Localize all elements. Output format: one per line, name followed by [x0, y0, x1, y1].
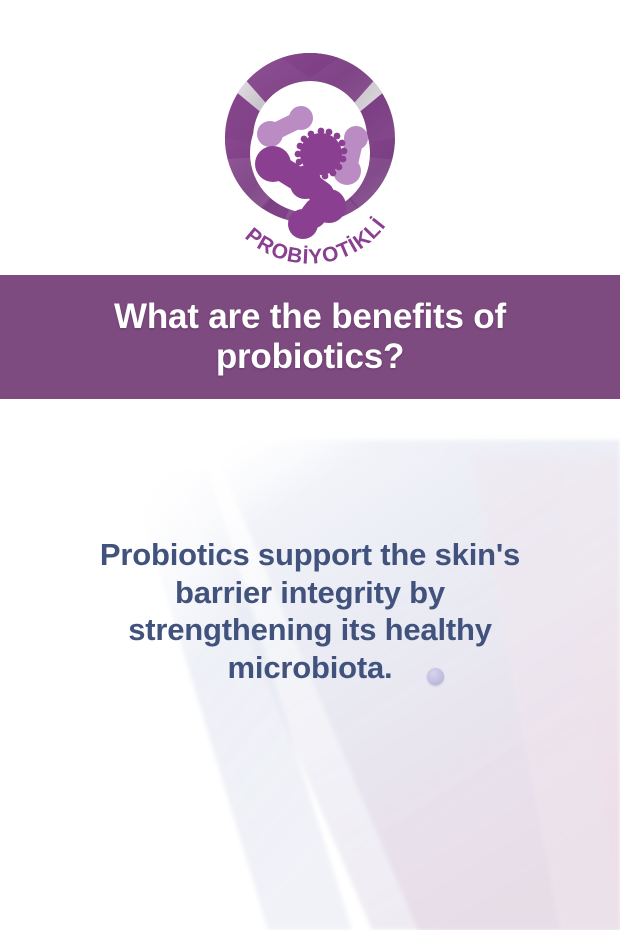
page-title: What are the benefits of probiotics? [0, 297, 620, 377]
body-statement: Probiotics support the skin's barrier in… [75, 536, 545, 686]
brand-logo: PROBİYOTİKLİ [195, 38, 425, 268]
decor-band-secondary [168, 452, 620, 930]
title-banner: What are the benefits of probiotics? [0, 275, 620, 399]
decor-band-right-wash [470, 455, 620, 930]
probiotic-ring-icon: PROBİYOTİKLİ [195, 38, 425, 268]
accent-dot-icon [427, 668, 444, 685]
slide-canvas: PROBİYOTİKLİ What are the benefits of pr… [0, 0, 620, 930]
